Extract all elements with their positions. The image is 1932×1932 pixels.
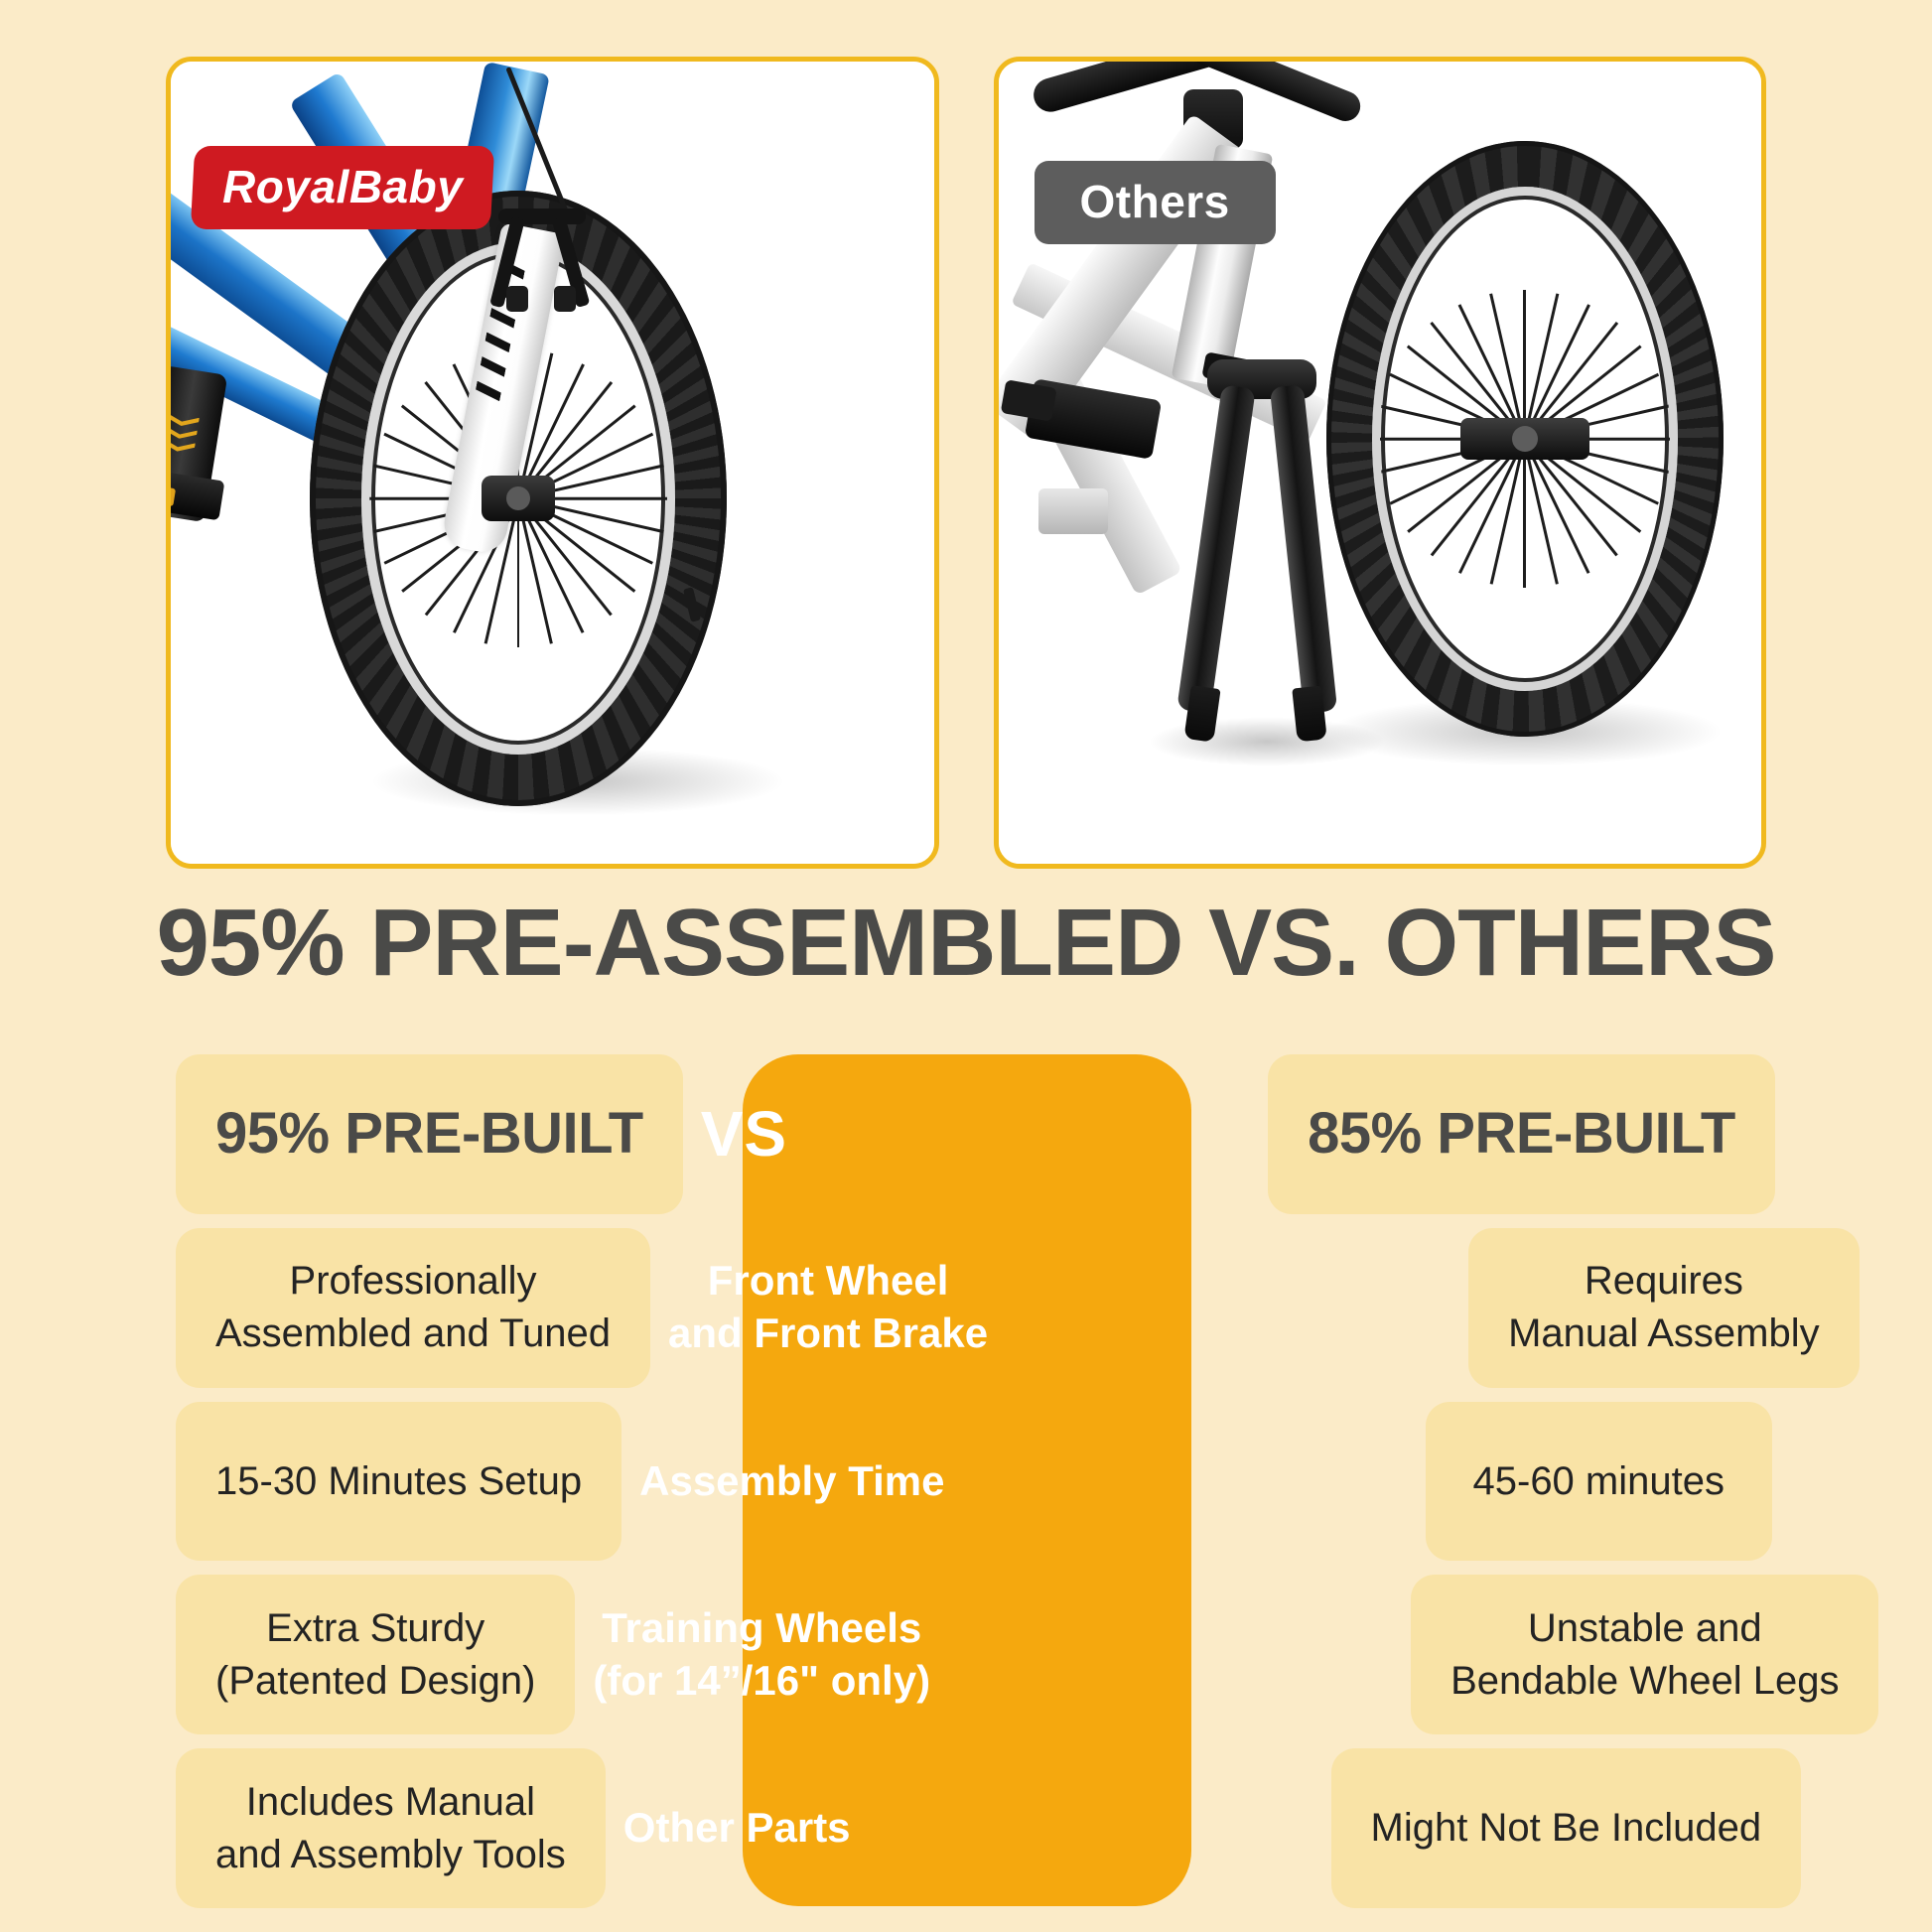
row-0-cell-left: ProfessionallyAssembled and Tuned — [176, 1228, 650, 1388]
pedal-and-crank — [166, 369, 290, 538]
row-3-cell-feature-text: Other Parts — [623, 1802, 851, 1855]
royalbaby-logo-badge: RoyalBaby — [191, 146, 495, 229]
comparison-row: ProfessionallyAssembled and TunedFront W… — [176, 1228, 1772, 1388]
row-2-cell-feature-text: Training Wheels(for 14”/16" only) — [593, 1602, 930, 1708]
front-brake-caliper — [492, 208, 612, 316]
header-cell-left-text: 95% PRE-BUILT — [215, 1096, 643, 1173]
row-2-cell-right-text: Unstable andBendable Wheel Legs — [1450, 1602, 1839, 1708]
detached-front-wheel — [1326, 141, 1724, 737]
comparison-rows: 95% PRE-BUILTVS85% PRE-BUILTProfessional… — [176, 1054, 1772, 1908]
comparison-header-row: 95% PRE-BUILTVS85% PRE-BUILT — [176, 1054, 1772, 1214]
photo-panel-royalbaby: RoyalBaby — [166, 57, 939, 869]
row-1-cell-left-text: 15-30 Minutes Setup — [215, 1455, 582, 1508]
photo-panel-others: Others — [994, 57, 1767, 869]
row-3-cell-left: Includes Manualand Assembly Tools — [176, 1748, 606, 1908]
row-3-cell-feature: Other Parts — [606, 1748, 869, 1908]
row-3-cell-left-text: Includes Manualand Assembly Tools — [215, 1776, 566, 1881]
fork-leg-right — [1269, 384, 1336, 714]
row-0-cell-left-text: ProfessionallyAssembled and Tuned — [215, 1255, 611, 1360]
row-2-cell-feature: Training Wheels(for 14”/16" only) — [575, 1575, 948, 1734]
row-0-cell-feature-text: Front Wheeland Front Brake — [668, 1255, 988, 1360]
pedal-chevrons — [166, 412, 202, 457]
row-0-cell-feature: Front Wheeland Front Brake — [650, 1228, 1006, 1388]
others-bike-photo: Others — [999, 62, 1762, 864]
fork-leg-left — [1176, 384, 1256, 714]
wheel-hub — [1460, 418, 1589, 460]
header-cell-right: 85% PRE-BUILT — [1268, 1054, 1775, 1214]
header-cell-vs-text: VS — [701, 1094, 787, 1174]
comparison-row: 15-30 Minutes SetupAssembly Time45-60 mi… — [176, 1402, 1772, 1562]
royalbaby-bike-photo: RoyalBaby — [171, 62, 934, 864]
detached-front-fork — [1148, 359, 1376, 757]
header-cell-left: 95% PRE-BUILT — [176, 1054, 683, 1214]
row-0-cell-right: RequiresManual Assembly — [1468, 1228, 1859, 1388]
bottom-bracket — [1038, 488, 1108, 534]
row-3-cell-right-text: Might Not Be Included — [1371, 1802, 1762, 1855]
others-badge: Others — [1035, 161, 1276, 244]
infographic-page: RoyalBaby — [0, 0, 1932, 1932]
header-cell-vs: VS — [683, 1054, 805, 1214]
row-1-cell-right-text: 45-60 minutes — [1473, 1455, 1725, 1508]
pedal — [1024, 378, 1161, 460]
header-cell-right-text: 85% PRE-BUILT — [1308, 1096, 1735, 1173]
row-2-cell-left: Extra Sturdy(Patented Design) — [176, 1575, 575, 1734]
row-3-cell-right: Might Not Be Included — [1331, 1748, 1802, 1908]
row-1-cell-right: 45-60 minutes — [1426, 1402, 1773, 1562]
row-2-cell-left-text: Extra Sturdy(Patented Design) — [215, 1602, 535, 1708]
row-1-cell-feature: Assembly Time — [621, 1402, 962, 1562]
comparison-row: Extra Sturdy(Patented Design)Training Wh… — [176, 1575, 1772, 1734]
photo-comparison-panels: RoyalBaby — [166, 57, 1766, 869]
row-1-cell-left: 15-30 Minutes Setup — [176, 1402, 621, 1562]
comparison-row: Includes Manualand Assembly ToolsOther P… — [176, 1748, 1772, 1908]
row-1-cell-feature-text: Assembly Time — [639, 1455, 944, 1508]
royalbaby-logo-label: RoyalBaby — [222, 160, 463, 213]
page-title: 95% PRE-ASSEMBLED VS. OTHERS — [0, 889, 1932, 998]
wheel-hub — [482, 476, 555, 521]
row-0-cell-right-text: RequiresManual Assembly — [1508, 1255, 1819, 1360]
others-badge-label: Others — [1080, 175, 1230, 228]
comparison-table: 95% PRE-BUILTVS85% PRE-BUILTProfessional… — [176, 1054, 1772, 1908]
fork-dropout-right — [1292, 686, 1326, 743]
row-2-cell-right: Unstable andBendable Wheel Legs — [1411, 1575, 1878, 1734]
